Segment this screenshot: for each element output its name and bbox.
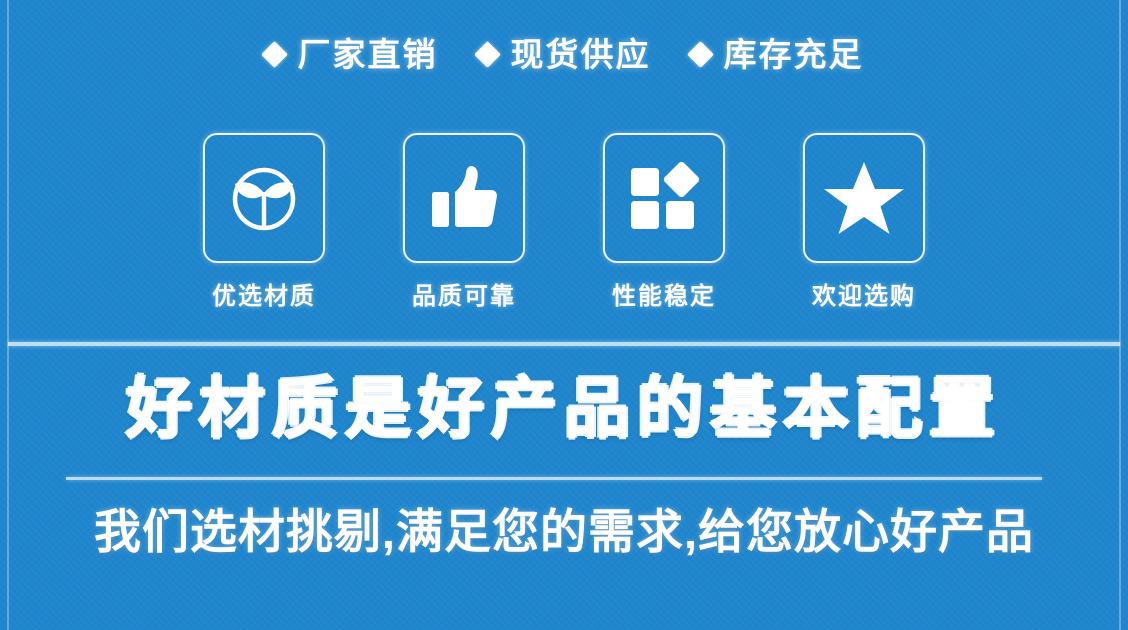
feature-label-performance: 性能稳定: [612, 285, 716, 309]
headline-underline: [66, 477, 1042, 480]
tagline-item-1: 厂家直销: [265, 38, 438, 71]
diamond-bullet-icon: [261, 41, 288, 68]
subtitle: 我们选材挑剔,满足您的需求,给您放心好产品: [0, 506, 1128, 558]
feature-row: 优选材质 品质可靠 性能稳定: [0, 133, 1128, 309]
feature-label-quality: 品质可靠: [412, 285, 516, 309]
tagline-row: 厂家直销 现货供应 库存充足: [0, 38, 1128, 71]
tagline-text-3: 库存充足: [724, 38, 864, 71]
feature-item-welcome: 欢迎选购: [796, 133, 932, 309]
blocks-grid-icon: [627, 161, 701, 235]
feature-item-quality: 品质可靠: [396, 133, 532, 309]
tagline-text-1: 厂家直销: [298, 38, 438, 71]
tagline-item-3: 库存充足: [691, 38, 864, 71]
tagline-text-2: 现货供应: [511, 38, 651, 71]
diamond-bullet-icon: [474, 41, 501, 68]
feature-item-material: 优选材质: [196, 133, 332, 309]
icon-box-welcome: [803, 133, 925, 263]
icon-box-quality: [403, 133, 525, 263]
diamond-bullet-icon: [687, 41, 714, 68]
thumbs-up-icon: [425, 159, 503, 237]
icon-box-performance: [603, 133, 725, 263]
feature-label-welcome: 欢迎选购: [812, 285, 916, 309]
tagline-item-2: 现货供应: [478, 38, 651, 71]
icon-box-material: [203, 133, 325, 263]
headline: 好材质是好产品的基本配置: [0, 372, 1128, 445]
promo-banner: 厂家直销 现货供应 库存充足 优选材质: [0, 0, 1128, 630]
sprout-in-circle-icon: [225, 159, 303, 237]
star-icon: [823, 158, 905, 238]
feature-label-material: 优选材质: [212, 285, 316, 309]
section-divider: [8, 342, 1120, 346]
feature-item-performance: 性能稳定: [596, 133, 732, 309]
